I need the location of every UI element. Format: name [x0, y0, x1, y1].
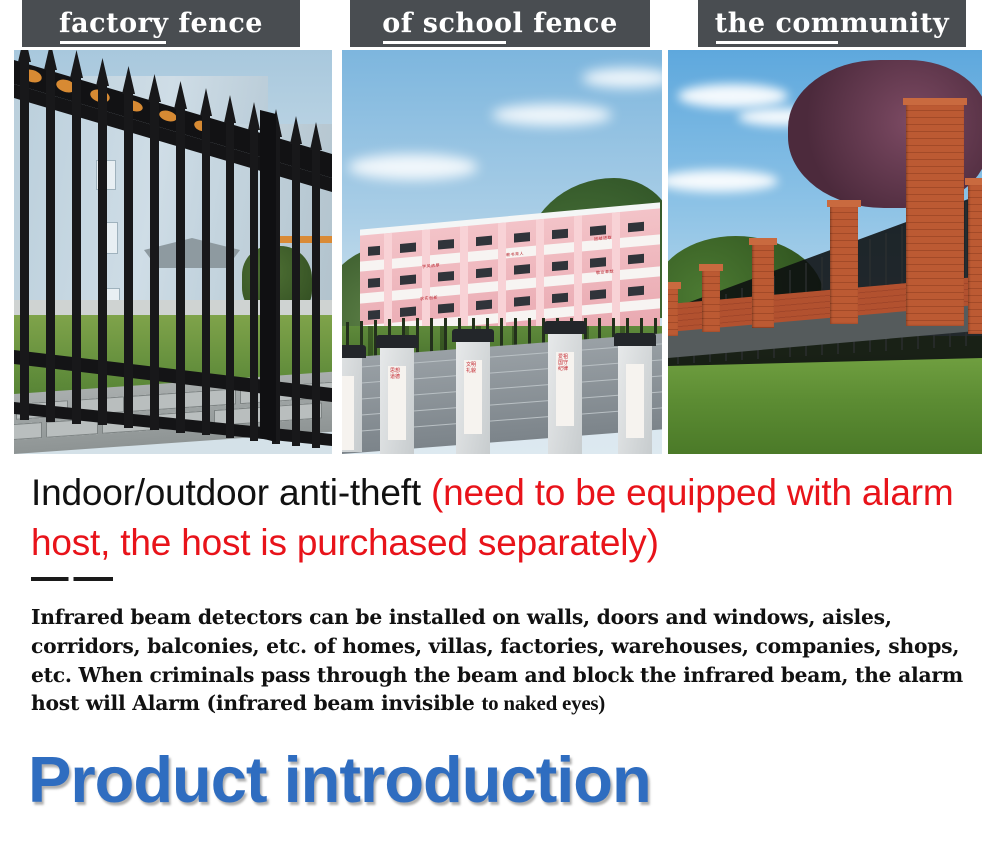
- brick-pillar: [752, 244, 774, 328]
- cloud: [348, 154, 478, 180]
- wall-pillar: 文明礼貌: [456, 340, 490, 454]
- section-divider: [31, 577, 113, 581]
- steel-fence-graphic: [14, 50, 332, 454]
- gallery-image-community-fence[interactable]: [668, 50, 982, 454]
- cloud: [582, 68, 662, 88]
- photo-gallery: factory fence: [0, 0, 1000, 456]
- brick-pillar: [830, 206, 858, 324]
- product-introduction-title: Product introduction: [28, 742, 651, 817]
- footer-spacer: [0, 843, 1000, 852]
- description-tail-text: to naked eyes): [481, 691, 605, 715]
- caption-text: of school fence: [382, 10, 618, 37]
- cloud: [678, 84, 788, 108]
- wall-pillar: 思想道德: [380, 346, 414, 454]
- wall-pillar: [618, 344, 652, 454]
- wall-pillar: 爱祖国守纪律: [548, 332, 582, 454]
- brick-pillar: [968, 184, 982, 334]
- caption-text: the community: [715, 10, 949, 37]
- caption-band-factory-fence: factory fence: [22, 0, 300, 47]
- caption-text: factory fence: [59, 10, 263, 37]
- headline-black-text: Indoor/outdoor anti-theft: [31, 472, 431, 513]
- description-paragraph: Infrared beam detectors can be installed…: [31, 603, 983, 719]
- brick-pillar-main: [906, 104, 964, 326]
- caption-band-community: the community: [698, 0, 966, 47]
- product-detail-page: factory fence: [0, 0, 1000, 852]
- cloud: [492, 104, 612, 126]
- gallery-image-factory-fence[interactable]: [14, 50, 332, 454]
- brick-pillar: [702, 270, 720, 332]
- gallery-image-school-fence[interactable]: 学风浓厚 教书育人 团结进取 求实创新 敬业奉献: [342, 50, 662, 454]
- page-headline: Indoor/outdoor anti-theft (need to be eq…: [31, 468, 969, 567]
- brick-pillar: [668, 288, 678, 336]
- caption-band-school-fence: of school fence: [350, 0, 650, 47]
- wall-pillar: [342, 356, 362, 452]
